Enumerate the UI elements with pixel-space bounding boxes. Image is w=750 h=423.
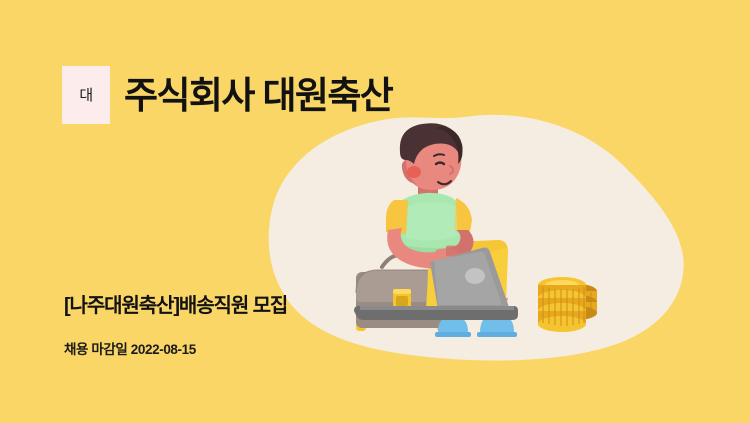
company-name: 주식회사 대원축산 bbox=[124, 77, 392, 114]
head bbox=[400, 123, 463, 190]
job-posting-card: 대 주식회사 대원축산 bbox=[0, 0, 750, 423]
laptop bbox=[354, 248, 518, 321]
job-title: [나주대원축산]배송직원 모집 bbox=[64, 289, 287, 318]
legs bbox=[408, 240, 508, 320]
torso bbox=[386, 182, 472, 255]
company-initial-text: 대 bbox=[79, 88, 92, 103]
coin-stacks bbox=[538, 277, 597, 332]
briefcase bbox=[356, 255, 448, 331]
company-initial-badge: 대 bbox=[62, 66, 110, 124]
shoes bbox=[435, 314, 517, 337]
decorative-blob bbox=[268, 114, 688, 362]
illustration-person-with-laptop bbox=[330, 120, 630, 350]
application-deadline: 채용 마감일 2022-08-15 bbox=[64, 338, 196, 358]
arms bbox=[387, 228, 473, 268]
header: 대 주식회사 대원축산 bbox=[62, 66, 392, 124]
